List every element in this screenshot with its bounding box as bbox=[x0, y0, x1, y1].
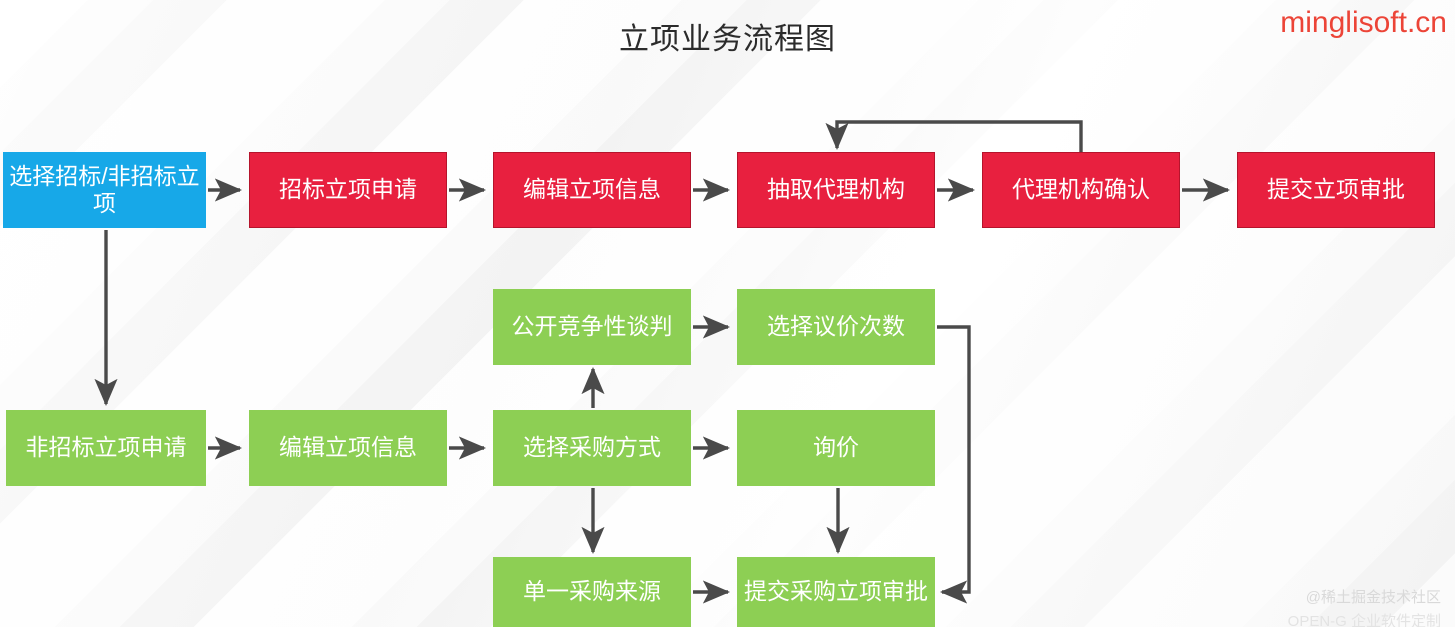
watermark-tagline: OPEN-G 企业软件定制 bbox=[1288, 610, 1441, 627]
flow-node-n13[interactable]: 单一采购来源 bbox=[493, 557, 691, 627]
connector-layer bbox=[0, 0, 1455, 627]
flow-node-n1[interactable]: 选择招标/非招标立项 bbox=[3, 152, 206, 228]
flow-node-n10[interactable]: 编辑立项信息 bbox=[249, 410, 447, 486]
flow-node-n6[interactable]: 提交立项审批 bbox=[1237, 152, 1435, 228]
background-stripes bbox=[0, 0, 1455, 627]
flow-node-n3[interactable]: 编辑立项信息 bbox=[493, 152, 691, 228]
flow-node-n14[interactable]: 提交采购立项审批 bbox=[737, 557, 935, 627]
flow-node-n11[interactable]: 选择采购方式 bbox=[493, 410, 691, 486]
flowchart-canvas: 立项业务流程图 minglisoft.cn 选择招标/非招标立项招标立项申请编辑… bbox=[0, 0, 1455, 627]
flow-node-n5[interactable]: 代理机构确认 bbox=[982, 152, 1180, 228]
watermark-community: @稀土掘金技术社区 bbox=[1306, 586, 1441, 607]
brand-logo: minglisoft.cn bbox=[1280, 6, 1447, 40]
flow-node-n12[interactable]: 询价 bbox=[737, 410, 935, 486]
flow-node-n9[interactable]: 非招标立项申请 bbox=[6, 410, 206, 486]
flow-node-n7[interactable]: 公开竞争性谈判 bbox=[493, 289, 691, 365]
background-sheen bbox=[0, 0, 1455, 627]
flow-node-n4[interactable]: 抽取代理机构 bbox=[737, 152, 935, 228]
page-title: 立项业务流程图 bbox=[0, 14, 1455, 58]
connector-n5-back-to-n4 bbox=[837, 122, 1081, 152]
flow-node-n8[interactable]: 选择议价次数 bbox=[737, 289, 935, 365]
flow-node-n2[interactable]: 招标立项申请 bbox=[249, 152, 447, 228]
connector-n8-back-to-n14 bbox=[937, 327, 969, 592]
